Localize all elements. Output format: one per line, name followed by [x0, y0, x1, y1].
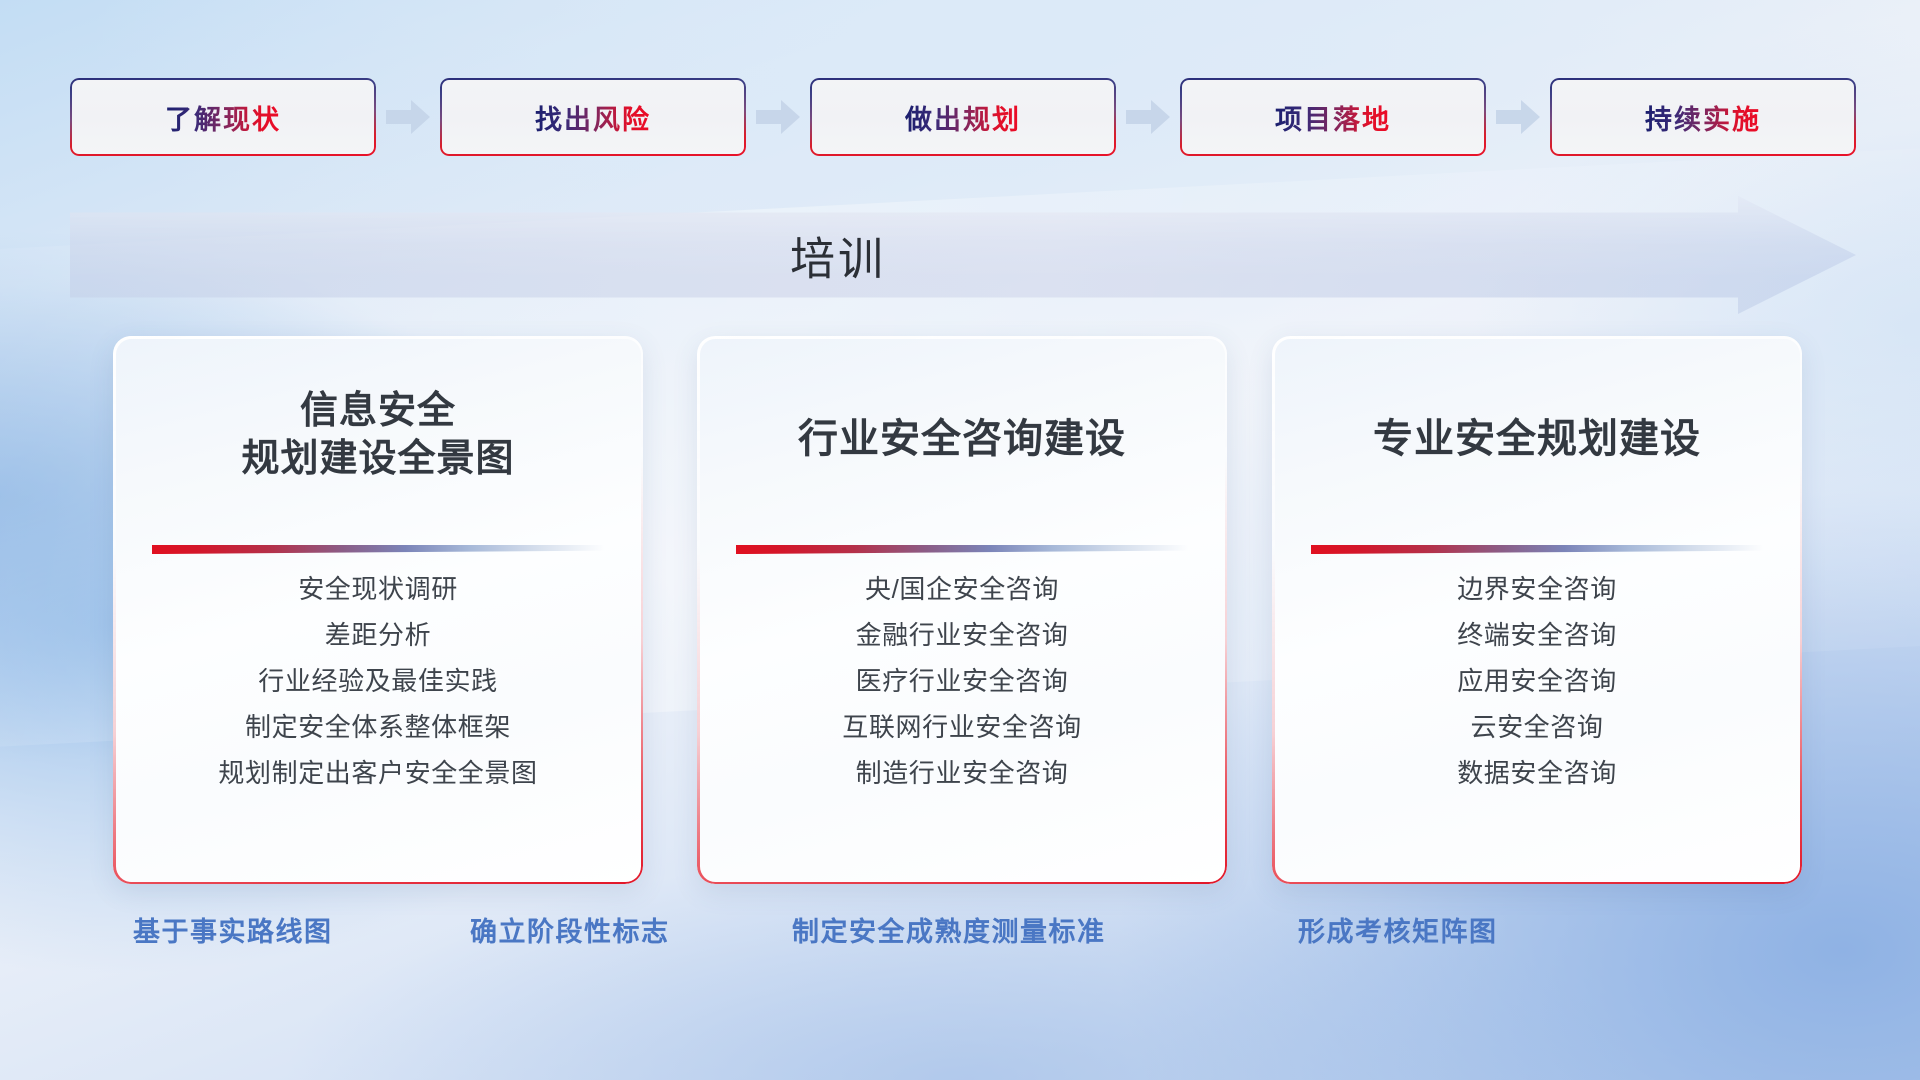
- card-title-line: 专业安全规划建设: [1373, 414, 1701, 464]
- list-item: 规划制定出客户安全全景图: [218, 760, 537, 786]
- list-item: 安全现状调研: [298, 576, 458, 602]
- footer-label: 形成考核矩阵图: [1298, 910, 1498, 949]
- flow-step-label: 做出规划: [905, 98, 1021, 137]
- card-list: 央/国企安全咨询 金融行业安全咨询 医疗行业安全咨询 互联网行业安全咨询 制造行…: [697, 576, 1227, 786]
- flow-step-2[interactable]: 做出规划: [810, 78, 1116, 156]
- list-item: 互联网行业安全咨询: [842, 714, 1081, 740]
- card-title-line: 规划建设全景图: [241, 436, 514, 484]
- list-item: 云安全咨询: [1470, 714, 1603, 740]
- card-list: 边界安全咨询 终端安全咨询 应用安全咨询 云安全咨询 数据安全咨询: [1272, 576, 1802, 786]
- card-title-line: 行业安全咨询建设: [798, 414, 1126, 464]
- card-title-zone: 专业安全规划建设: [1272, 336, 1802, 508]
- list-item: 终端安全咨询: [1457, 622, 1617, 648]
- training-banner: 培训: [70, 196, 1856, 314]
- list-item: 数据安全咨询: [1457, 760, 1617, 786]
- list-item: 制造行业安全咨询: [856, 760, 1069, 786]
- flow-step-label: 了解现状: [165, 98, 281, 137]
- footer-label: 基于事实路线图: [133, 910, 333, 949]
- card-divider: [1311, 545, 1763, 554]
- card-title: 专业安全规划建设: [1347, 414, 1727, 464]
- process-flow: 了解现状 找出风险 做出规划 项目落地: [70, 78, 1856, 156]
- arrow-right-icon: [376, 78, 440, 156]
- flow-step-label: 找出风险: [535, 98, 651, 137]
- card-title-zone: 信息安全 规划建设全景图: [113, 336, 643, 508]
- card-professional-security-planning[interactable]: 专业安全规划建设 边界安全咨询 终端安全咨询 应用安全咨询 云安全咨询 数据安全…: [1272, 336, 1802, 884]
- card-title: 行业安全咨询建设: [772, 414, 1152, 464]
- card-list-zone: 央/国企安全咨询 金融行业安全咨询 医疗行业安全咨询 互联网行业安全咨询 制造行…: [697, 554, 1227, 884]
- card-group: 信息安全 规划建设全景图 安全现状调研 差距分析 行业经验及最佳实践 制定安全体…: [0, 336, 1920, 884]
- flow-step-label: 持续实施: [1645, 98, 1761, 137]
- card-divider-zone: [697, 508, 1227, 554]
- list-item: 差距分析: [325, 622, 431, 648]
- list-item: 行业经验及最佳实践: [258, 668, 497, 694]
- slide-stage: 了解现状 找出风险 做出规划 项目落地: [0, 0, 1920, 1080]
- arrow-right-icon: [746, 78, 810, 156]
- list-item: 边界安全咨询: [1457, 576, 1617, 602]
- card-divider-zone: [113, 508, 643, 554]
- footer-label: 制定安全成熟度测量标准: [792, 910, 1106, 949]
- flow-step-4[interactable]: 持续实施: [1550, 78, 1856, 156]
- card-list-zone: 边界安全咨询 终端安全咨询 应用安全咨询 云安全咨询 数据安全咨询: [1272, 554, 1802, 884]
- card-title-zone: 行业安全咨询建设: [697, 336, 1227, 508]
- card-title-line: 信息安全: [241, 388, 514, 436]
- list-item: 央/国企安全咨询: [865, 576, 1059, 602]
- flow-step-label: 项目落地: [1275, 98, 1391, 137]
- flow-step-1[interactable]: 找出风险: [440, 78, 746, 156]
- card-list-zone: 安全现状调研 差距分析 行业经验及最佳实践 制定安全体系整体框架 规划制定出客户…: [113, 554, 643, 884]
- arrow-right-icon: [1486, 78, 1550, 156]
- card-industry-security-consulting[interactable]: 行业安全咨询建设 央/国企安全咨询 金融行业安全咨询 医疗行业安全咨询 互联网行…: [697, 336, 1227, 884]
- list-item: 制定安全体系整体框架: [245, 714, 511, 740]
- flow-step-3[interactable]: 项目落地: [1180, 78, 1486, 156]
- card-divider: [152, 545, 604, 554]
- list-item: 应用安全咨询: [1457, 668, 1617, 694]
- footer-label: 确立阶段性标志: [470, 910, 670, 949]
- card-divider: [736, 545, 1188, 554]
- list-item: 医疗行业安全咨询: [856, 668, 1069, 694]
- card-divider-zone: [1272, 508, 1802, 554]
- arrow-right-icon: [1116, 78, 1180, 156]
- card-information-security-blueprint[interactable]: 信息安全 规划建设全景图 安全现状调研 差距分析 行业经验及最佳实践 制定安全体…: [113, 336, 643, 884]
- card-list: 安全现状调研 差距分析 行业经验及最佳实践 制定安全体系整体框架 规划制定出客户…: [113, 576, 643, 786]
- list-item: 金融行业安全咨询: [856, 622, 1069, 648]
- flow-step-0[interactable]: 了解现状: [70, 78, 376, 156]
- banner-title: 培训: [70, 223, 1856, 288]
- footer-labels: 基于事实路线图 确立阶段性标志 制定安全成熟度测量标准 形成考核矩阵图: [0, 910, 1920, 970]
- card-title: 信息安全 规划建设全景图: [215, 388, 540, 484]
